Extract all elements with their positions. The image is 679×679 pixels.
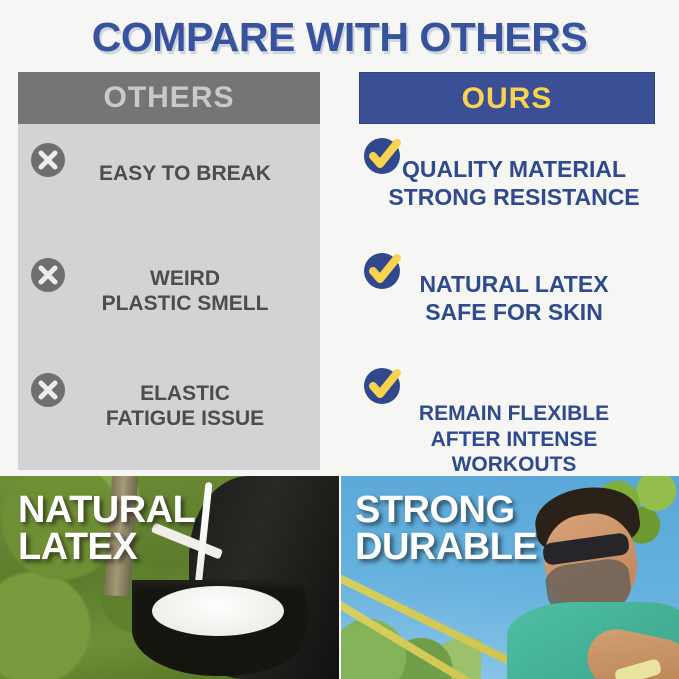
ours-row-3-line-2: AFTER INTENSE WORKOUTS xyxy=(369,428,659,478)
photo-right-caption-line-1: STRONG xyxy=(355,492,537,529)
ours-row-2-line-2: SAFE FOR SKIN xyxy=(369,299,659,326)
photo-left-caption-line-2: LATEX xyxy=(18,529,195,566)
photo-left-caption: NATURAL LATEX xyxy=(18,492,195,566)
photo-left-caption-line-1: NATURAL xyxy=(18,492,195,529)
ours-row-3-line-1: REMAIN FLEXIBLE xyxy=(369,402,659,427)
others-column: OTHERS EASY TO BREAK xyxy=(18,72,320,470)
photo-strip: NATURAL LATEX STRONG DURABLE xyxy=(0,476,679,679)
man-resistance-band-photo: STRONG DURABLE xyxy=(341,476,679,679)
others-row-2-line-2: PLASTIC SMELL xyxy=(60,292,310,317)
ours-row-2-line-1: NATURAL LATEX xyxy=(369,271,659,298)
ours-row-1-line-1: QUALITY MATERIAL xyxy=(369,156,659,183)
photo-right-caption: STRONG DURABLE xyxy=(355,492,537,566)
ours-row-1-line-2: STRONG RESISTANCE xyxy=(369,184,659,211)
others-row-1-line-1: EASY TO BREAK xyxy=(60,162,310,187)
ours-column-header: OURS xyxy=(359,72,655,124)
others-row-3-line-1: ELASTIC xyxy=(60,382,310,407)
others-row-3-line-2: FATIGUE ISSUE xyxy=(60,407,310,432)
comparison-infographic: COMPARE WITH OTHERS OTHERS EASY TO BREAK xyxy=(0,0,679,679)
latex-liquid xyxy=(152,586,284,636)
ours-column: OURS QUALITY MATERIAL STRONG RESISTANCE xyxy=(359,72,655,470)
latex-tapping-photo: NATURAL LATEX xyxy=(0,476,339,679)
others-row-2-line-1: WEIRD xyxy=(60,267,310,292)
photo-right-caption-line-2: DURABLE xyxy=(355,529,537,566)
page-title: COMPARE WITH OTHERS xyxy=(0,14,679,61)
comparison-section: OTHERS EASY TO BREAK xyxy=(0,72,679,476)
others-column-header: OTHERS xyxy=(18,72,320,124)
